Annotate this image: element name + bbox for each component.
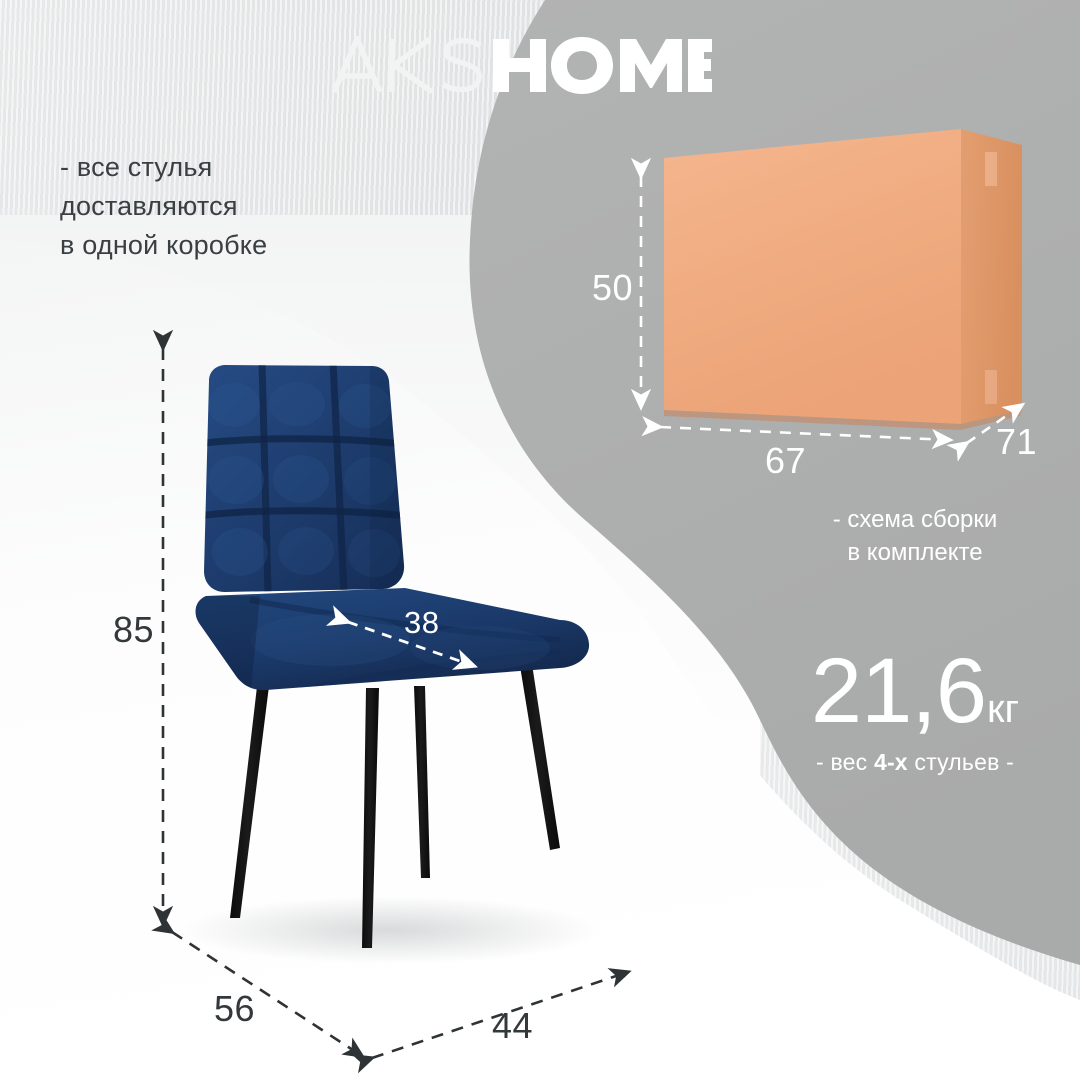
- chair-dimension-lines: [0, 0, 1080, 1080]
- infographic-canvas: - все стулья доставляются в одной коробк…: [0, 0, 1080, 1080]
- chair-depth-value: 56: [214, 991, 255, 1027]
- chair-depth-line: [172, 932, 362, 1056]
- chair-width-value: 44: [492, 1008, 533, 1044]
- chair-height-value: 85: [113, 612, 154, 648]
